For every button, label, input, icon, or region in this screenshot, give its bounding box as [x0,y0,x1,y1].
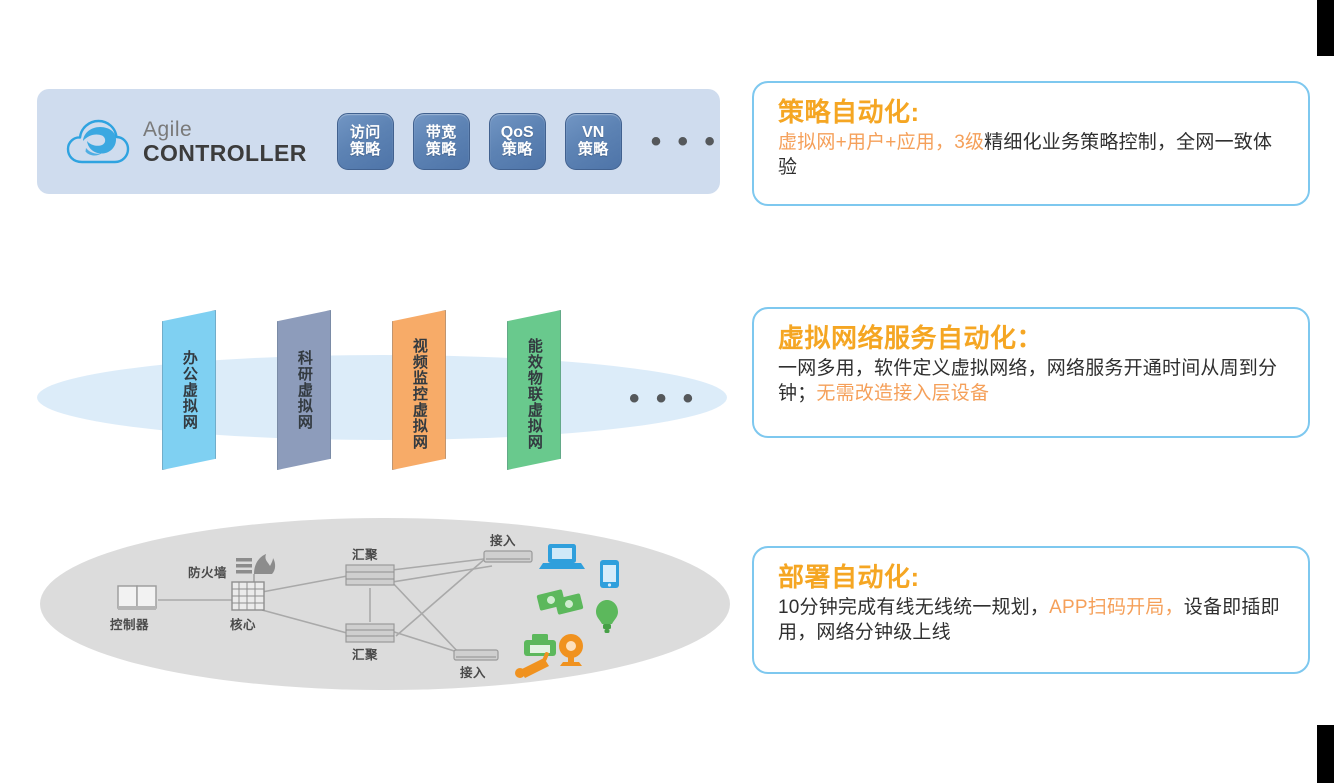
cloud-swoosh-icon [65,116,131,168]
policy-automation-card-body: 虚拟网+用户+应用，3级精细化业务策略控制，全网一致体验 [778,130,1286,180]
policy-automation-card-title: 策略自动化: [778,97,1286,128]
policy-chip-qos-line2: 策略 [502,142,533,159]
banknote-icon [536,589,583,615]
virtual-network-plane-research-label: 科研虚拟网 [296,350,312,430]
topology-label-controller: 控制器 [110,614,149,633]
logo-line-agile: Agile [143,119,307,140]
printer-icon [524,634,556,656]
aggregation-top-node-icon [346,565,394,585]
topology-label-aggregation-top: 汇聚 [352,544,378,563]
virtual-network-plane-energy-label: 能效物联虚拟网 [526,338,542,442]
policy-chip-access[interactable]: 访问 策略 [337,113,394,170]
virtual-network-plane-office: 办公虚拟网 [162,310,216,470]
policy-chip-bandwidth[interactable]: 带宽 策略 [413,113,470,170]
policy-automation-highlight: 虚拟网+用户+应用，3级 [778,132,984,153]
deployment-automation-card: 部署自动化: 10分钟完成有线无线统一规划，APP扫码开局，设备即插即用，网络分… [752,546,1310,674]
policy-chip-bandwidth-line2: 策略 [426,142,457,159]
agile-controller-bar: Agile CONTROLLER 访问 策略 带宽 策略 QoS 策略 VN 策… [37,89,720,194]
firewall-node-icon [236,554,275,582]
policy-chip-access-line1: 访问 [350,125,381,142]
policy-chip-bandwidth-line1: 带宽 [426,125,457,142]
policy-chip-vn[interactable]: VN 策略 [565,113,622,170]
policy-chip-row: 访问 策略 带宽 策略 QoS 策略 VN 策略 • • • [337,113,719,170]
controller-node-icon [118,586,156,610]
vn-service-card-body: 一网多用，软件定义虚拟网络，网络服务开通时间从周到分钟；无需改造接入层设备 [778,356,1286,406]
laptop-icon [539,544,585,569]
virtual-network-plane-video: 视频监控虚拟网 [392,310,446,470]
access-bottom-node-icon [454,650,498,660]
policy-chip-qos-line1: QoS [501,124,534,142]
virtual-network-plane-office-label: 办公虚拟网 [181,350,197,430]
deployment-card-title: 部署自动化: [778,562,1286,593]
topology-label-core: 核心 [230,614,256,633]
vn-service-highlight: 无需改造接入层设备 [816,383,989,404]
topology-label-access-top: 接入 [490,530,516,549]
virtual-network-service-automation-card: 虚拟网络服务自动化： 一网多用，软件定义虚拟网络，网络服务开通时间从周到分钟；无… [752,307,1310,438]
logo-line-controller: CONTROLLER [143,142,307,165]
core-switch-node-icon [232,582,264,610]
virtual-network-plane-video-label: 视频监控虚拟网 [411,338,427,442]
network-topology-diagram: 控制器 防火墙 核心 汇聚 汇聚 接入 接入 [40,518,730,690]
topology-label-firewall: 防火墙 [188,562,227,581]
tablet-icon [600,560,619,588]
virtual-network-plane-energy: 能效物联虚拟网 [507,310,561,470]
access-top-node-icon [484,551,532,562]
slide-canvas: Agile CONTROLLER 访问 策略 带宽 策略 QoS 策略 VN 策… [0,0,1334,783]
agile-controller-logo: Agile CONTROLLER [65,116,307,168]
lightbulb-icon [596,600,618,633]
aggregation-bottom-node-icon [346,624,394,642]
right-edge-bar-top [1317,0,1334,56]
virtual-network-more-ellipsis: • • • [629,382,697,416]
policy-automation-card: 策略自动化: 虚拟网+用户+应用，3级精细化业务策略控制，全网一致体验 [752,81,1310,206]
topology-graphics [40,518,730,690]
policy-chip-vn-line2: 策略 [578,142,609,159]
topology-label-access-bottom: 接入 [460,662,486,681]
deployment-plain-1: 10分钟完成有线无线统一规划， [778,597,1049,618]
vn-service-card-title: 虚拟网络服务自动化： [778,323,1286,354]
policy-chip-vn-line1: VN [582,124,604,142]
topology-label-aggregation-bottom: 汇聚 [352,644,378,663]
agile-controller-wordmark: Agile CONTROLLER [143,119,307,165]
deployment-card-body: 10分钟完成有线无线统一规划，APP扫码开局，设备即插即用，网络分钟级上线 [778,595,1286,645]
deployment-highlight: APP扫码开局， [1049,597,1184,618]
policy-more-ellipsis[interactable]: • • • [651,127,719,157]
policy-chip-qos[interactable]: QoS 策略 [489,113,546,170]
policy-chip-access-line2: 策略 [350,142,381,159]
webcam-icon [559,634,583,666]
virtual-network-backdrop-ellipse [37,355,727,440]
virtual-network-diagram: 办公虚拟网 科研虚拟网 视频监控虚拟网 能效物联虚拟网 • • • [37,300,727,495]
right-edge-bar-bottom [1317,725,1334,783]
virtual-network-plane-research: 科研虚拟网 [277,310,331,470]
